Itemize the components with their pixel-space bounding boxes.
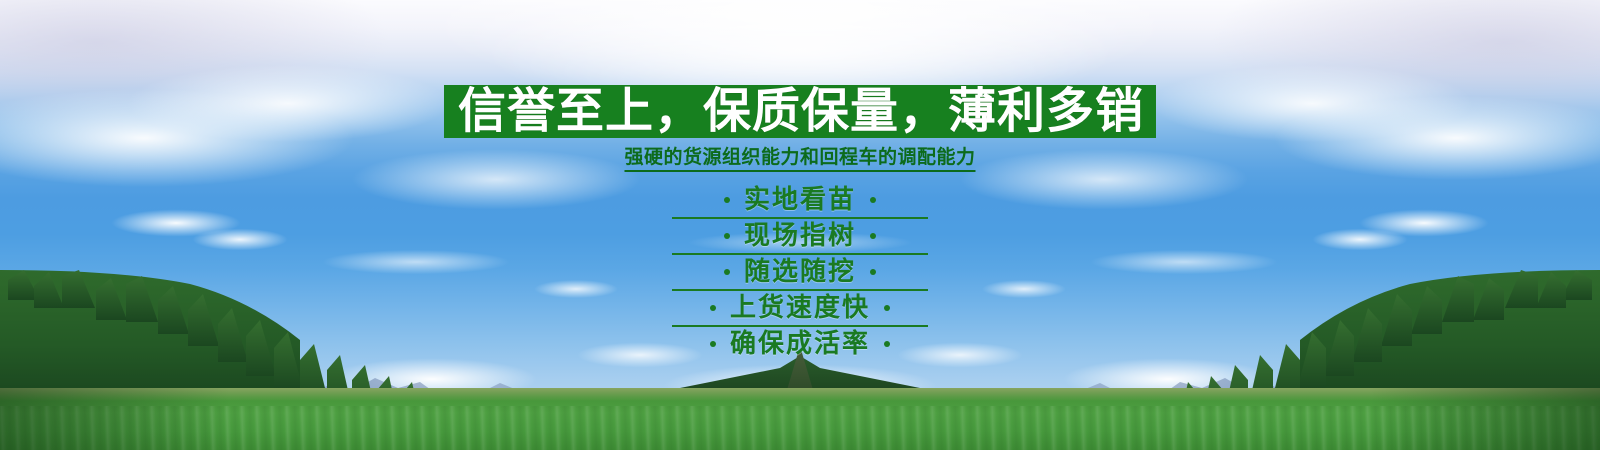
feature-item-2: 现场指树 bbox=[670, 218, 930, 254]
bullet-dot-icon bbox=[870, 269, 876, 275]
feature-label: 上货速度快 bbox=[730, 293, 870, 323]
field-far-strip bbox=[0, 388, 1600, 401]
bullet-dot-icon bbox=[870, 233, 876, 239]
bullet-dot-icon bbox=[870, 197, 876, 203]
bullet-dot-icon bbox=[724, 269, 730, 275]
feature-item-4: 上货速度快 bbox=[670, 290, 930, 326]
feature-label: 随选随挖 bbox=[744, 257, 856, 287]
headline-text: 信誉至上，保质保量，薄利多销 bbox=[444, 85, 1156, 138]
feature-item-3: 随选随挖 bbox=[670, 254, 930, 290]
field-shadow-right bbox=[1370, 388, 1600, 450]
feature-item-1: 实地看苗 bbox=[670, 182, 930, 218]
bullet-dot-icon bbox=[724, 197, 730, 203]
bullet-dot-icon bbox=[710, 341, 716, 347]
crop-field bbox=[0, 388, 1600, 450]
headline-container: 信誉至上，保质保量，薄利多销 bbox=[444, 85, 1156, 138]
field-shadow-left bbox=[0, 388, 230, 450]
feature-label: 现场指树 bbox=[744, 221, 856, 251]
feature-list: 实地看苗 现场指树 随选随挖 上货速度快 bbox=[670, 182, 930, 362]
feature-label: 确保成活率 bbox=[730, 329, 870, 359]
bullet-dot-icon bbox=[710, 305, 716, 311]
feature-label: 实地看苗 bbox=[744, 185, 856, 215]
subtitle-text: 强硬的货源组织能力和回程车的调配能力 bbox=[624, 145, 975, 172]
promo-banner: 信誉至上，保质保量，薄利多销 强硬的货源组织能力和回程车的调配能力 实地看苗 现… bbox=[0, 0, 1600, 450]
bullet-dot-icon bbox=[884, 305, 890, 311]
field-furrows bbox=[0, 406, 1600, 450]
bullet-dot-icon bbox=[884, 341, 890, 347]
feature-item-5: 确保成活率 bbox=[670, 326, 930, 362]
bullet-dot-icon bbox=[724, 233, 730, 239]
